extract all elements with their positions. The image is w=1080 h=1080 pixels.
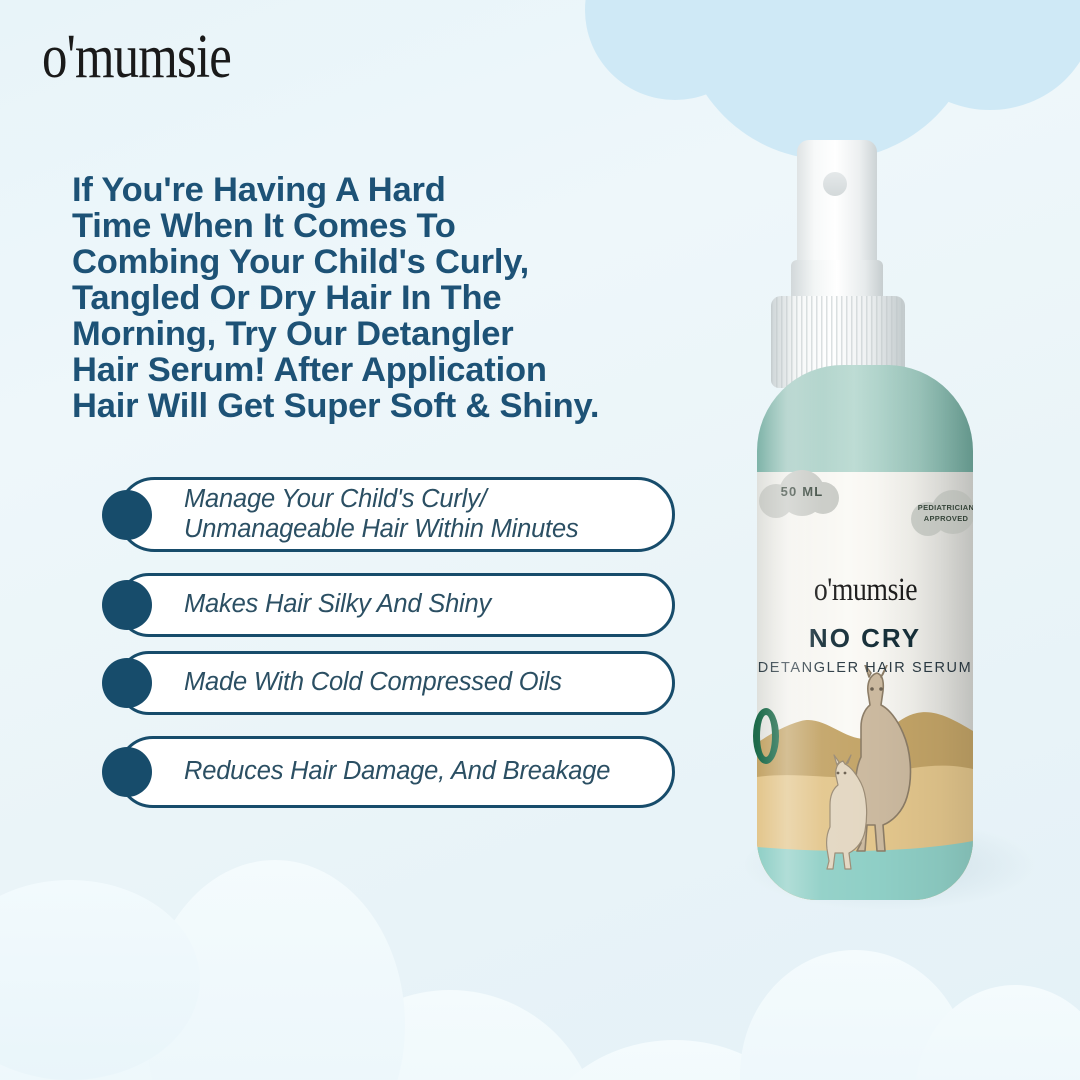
approval-badge: PEDIATRICIAN APPROVED [911, 488, 973, 550]
benefit-pill-label: Reduces Hair Damage, And Breakage [184, 757, 610, 787]
headline-line: If You're Having A Hard [72, 172, 692, 208]
benefit-pill: Manage Your Child's Curly/ Unmanageable … [117, 477, 675, 552]
spray-nozzle-orifice-icon [823, 172, 847, 196]
benefit-pill-label: Makes Hair Silky And Shiny [184, 590, 491, 620]
headline-line: Tangled Or Dry Hair In The [72, 280, 692, 316]
volume-badge-label: 50 ML [767, 484, 837, 499]
cloud-bottom-middle [300, 950, 820, 1080]
benefit-pill: Made With Cold Compressed Oils [117, 651, 675, 715]
bullet-dot-icon [102, 658, 152, 708]
label-artwork-dunes [757, 665, 973, 900]
headline-line: Morning, Try Our Detangler [72, 316, 692, 352]
cloud-lower-left-faint [0, 880, 240, 1080]
product-bottle-image: 50 ML PEDIATRICIAN APPROVED o'mumsie NO … [735, 120, 1035, 920]
bullet-dot-icon [102, 580, 152, 630]
benefit-pill-label: Manage Your Child's Curly/ Unmanageable … [184, 485, 656, 544]
label-brand-text: o'mumsie [813, 572, 916, 609]
headline-line: Hair Will Get Super Soft & Shiny. [72, 388, 692, 424]
bullet-dot-icon [102, 747, 152, 797]
spray-nozzle-head [797, 140, 877, 268]
label-brand-name: o'mumsie [757, 572, 973, 609]
brand-logo-text: o'mumsie [42, 26, 231, 88]
promo-canvas: o'mumsie If You're Having A Hard Time Wh… [0, 0, 1080, 1080]
volume-badge: 50 ML [755, 468, 841, 520]
bullet-dot-icon [102, 490, 152, 540]
headline-line: Combing Your Child's Curly, [72, 244, 692, 280]
page-headline: If You're Having A Hard Time When It Com… [72, 172, 692, 424]
benefit-pill: Reduces Hair Damage, And Breakage [117, 736, 675, 808]
cloud-bottom-left [0, 840, 490, 1080]
llama-scene-illustration [757, 665, 973, 900]
approval-badge-label: PEDIATRICIAN APPROVED [917, 502, 973, 525]
label-product-subtitle: DETANGLER HAIR SERUM [757, 660, 973, 676]
label-product-title: NO CRY [757, 623, 973, 654]
brand-logo: o'mumsie [42, 26, 273, 88]
bottle-shoulder [757, 365, 973, 483]
benefit-pill: Makes Hair Silky And Shiny [117, 573, 675, 637]
headline-line: Hair Serum! After Application [72, 352, 692, 388]
green-side-badge-icon [753, 708, 779, 764]
headline-line: Time When It Comes To [72, 208, 692, 244]
benefit-pill-label: Made With Cold Compressed Oils [184, 668, 562, 698]
